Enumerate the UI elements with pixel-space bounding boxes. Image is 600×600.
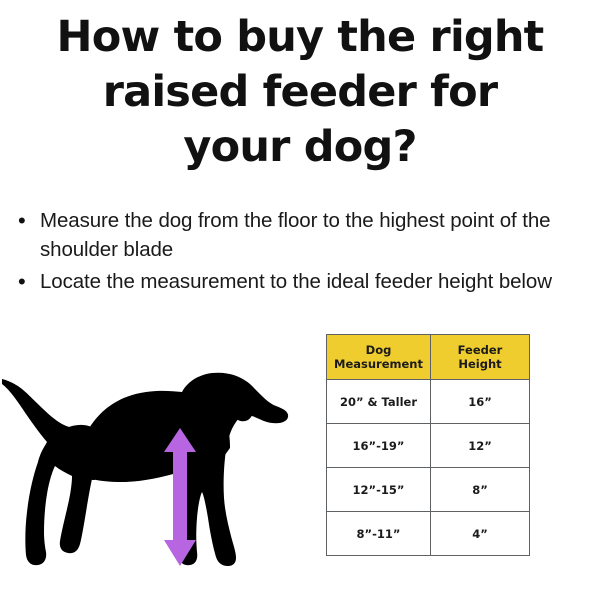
feeder-size-table: Dog Measurement Feeder Height 20” & Tall… bbox=[326, 334, 530, 556]
cell-feeder-height: 4” bbox=[431, 512, 530, 556]
column-header-dog-measurement-line-2: Measurement bbox=[334, 357, 423, 371]
list-item: • Measure the dog from the floor to the … bbox=[12, 206, 580, 264]
dog-measurement-illustration bbox=[0, 372, 310, 582]
instruction-list: • Measure the dog from the floor to the … bbox=[12, 206, 580, 299]
column-header-feeder-height: Feeder Height bbox=[431, 335, 530, 380]
table-row: 8”-11” 4” bbox=[327, 512, 530, 556]
instruction-text-2: Locate the measurement to the ideal feed… bbox=[40, 267, 580, 296]
cell-feeder-height: 12” bbox=[431, 424, 530, 468]
cell-feeder-height: 16” bbox=[431, 380, 530, 424]
page-title-line-1: How to buy the right bbox=[0, 10, 600, 65]
cell-dog-measurement: 20” & Taller bbox=[327, 380, 431, 424]
column-header-feeder-height-line-1: Feeder bbox=[458, 343, 503, 357]
page-title-line-2: raised feeder for bbox=[0, 65, 600, 120]
column-header-feeder-height-line-2: Height bbox=[458, 357, 501, 371]
instruction-text-1: Measure the dog from the floor to the hi… bbox=[40, 206, 580, 264]
table-row: 16”-19” 12” bbox=[327, 424, 530, 468]
cell-dog-measurement: 12”-15” bbox=[327, 468, 431, 512]
cell-feeder-height: 8” bbox=[431, 468, 530, 512]
table-row: 20” & Taller 16” bbox=[327, 380, 530, 424]
bullet-icon: • bbox=[12, 267, 40, 296]
page-title-line-3: your dog? bbox=[0, 120, 600, 175]
cell-dog-measurement: 8”-11” bbox=[327, 512, 431, 556]
dog-side-silhouette bbox=[2, 373, 288, 566]
table-header-row: Dog Measurement Feeder Height bbox=[327, 335, 530, 380]
bullet-icon: • bbox=[12, 206, 40, 235]
cell-dog-measurement: 16”-19” bbox=[327, 424, 431, 468]
column-header-dog-measurement-line-1: Dog bbox=[366, 343, 392, 357]
page-title: How to buy the right raised feeder for y… bbox=[0, 10, 600, 175]
table-row: 12”-15” 8” bbox=[327, 468, 530, 512]
column-header-dog-measurement: Dog Measurement bbox=[327, 335, 431, 380]
list-item: • Locate the measurement to the ideal fe… bbox=[12, 267, 580, 296]
